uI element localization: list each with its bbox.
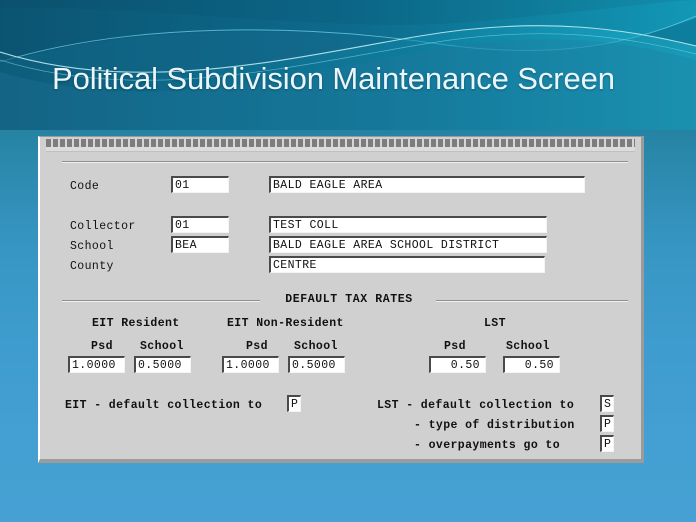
code-label: Code xyxy=(70,180,99,193)
school-name-input[interactable]: BALD EAGLE AREA SCHOOL DISTRICT xyxy=(269,236,547,253)
lst-psd-input[interactable]: 0.50 xyxy=(429,356,486,373)
lst-overpayments-go-to-label: - overpayments go to xyxy=(414,439,560,452)
lst-psd-label: Psd xyxy=(444,340,466,353)
collector-input[interactable]: 01 xyxy=(171,216,229,233)
school-label: School xyxy=(70,240,114,253)
county-label: County xyxy=(70,260,114,273)
eit-non-resident-school-input[interactable]: 0.5000 xyxy=(288,356,345,373)
lst-default-collection-input[interactable]: S xyxy=(600,395,614,412)
eit-non-resident-heading: EIT Non-Resident xyxy=(227,317,344,330)
eit-default-collection-input[interactable]: P xyxy=(287,395,301,412)
eit-default-collection-label: EIT - default collection to xyxy=(65,399,262,412)
county-input[interactable]: CENTRE xyxy=(269,256,545,273)
tax-rates-rule-left xyxy=(62,300,260,302)
eit-non-resident-school-label: School xyxy=(294,340,338,353)
top-divider xyxy=(62,161,628,163)
eit-non-resident-psd-label: Psd xyxy=(246,340,268,353)
page-title: Political Subdivision Maintenance Screen xyxy=(52,61,652,97)
eit-non-resident-psd-input[interactable]: 1.0000 xyxy=(222,356,279,373)
lst-school-label: School xyxy=(506,340,550,353)
maintenance-screen-window: Code 01 BALD EAGLE AREA Collector 01 TES… xyxy=(38,136,644,463)
slide-canvas: Political Subdivision Maintenance Screen… xyxy=(0,0,696,522)
eit-resident-psd-label: Psd xyxy=(91,340,113,353)
lst-overpayments-go-to-input[interactable]: P xyxy=(600,435,614,452)
school-input[interactable]: BEA xyxy=(171,236,229,253)
window-title-hatch-bar-lower xyxy=(46,147,635,152)
code-input[interactable]: 01 xyxy=(171,176,229,193)
eit-resident-heading: EIT Resident xyxy=(92,317,180,330)
tax-rates-group-title: DEFAULT TAX RATES xyxy=(266,293,432,306)
lst-heading: LST xyxy=(484,317,506,330)
eit-resident-school-label: School xyxy=(140,340,184,353)
tax-rates-rule-right xyxy=(436,300,628,302)
code-name-input[interactable]: BALD EAGLE AREA xyxy=(269,176,585,193)
collector-name-input[interactable]: TEST COLL xyxy=(269,216,547,233)
lst-type-of-distribution-label: - type of distribution xyxy=(414,419,575,432)
eit-resident-school-input[interactable]: 0.5000 xyxy=(134,356,191,373)
lst-default-collection-label: LST - default collection to xyxy=(377,399,574,412)
lst-school-input[interactable]: 0.50 xyxy=(503,356,560,373)
lst-type-of-distribution-input[interactable]: P xyxy=(600,415,614,432)
eit-resident-psd-input[interactable]: 1.0000 xyxy=(68,356,125,373)
collector-label: Collector xyxy=(70,220,136,233)
